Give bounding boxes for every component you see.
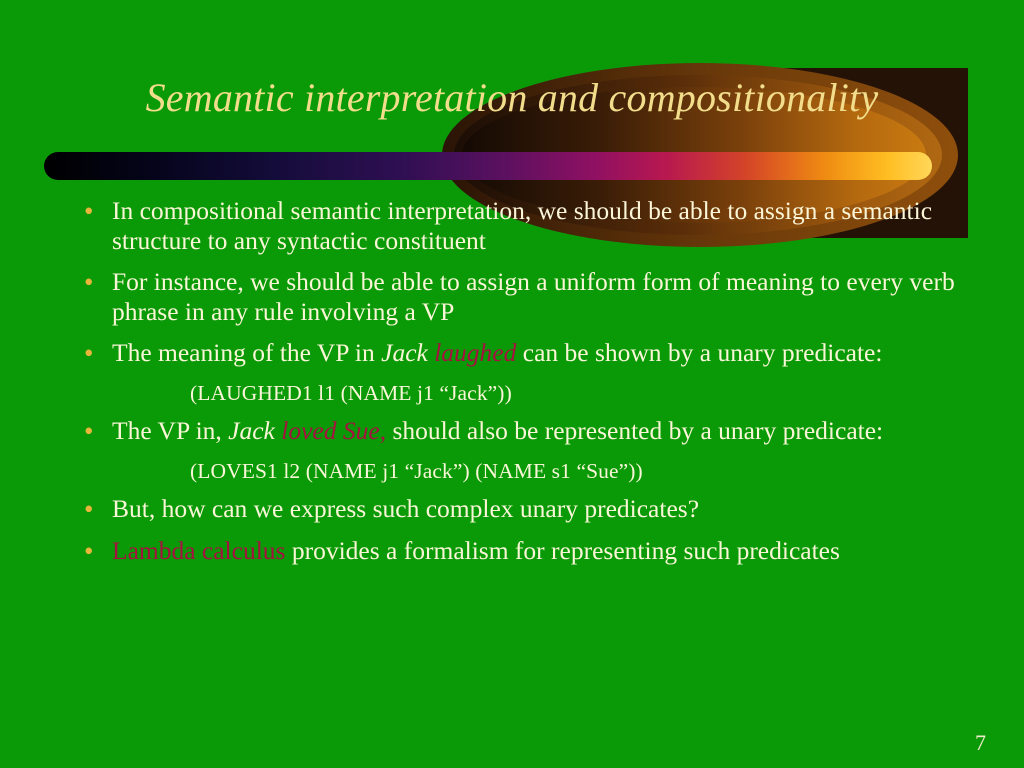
bullet-dot-icon: • <box>78 536 112 567</box>
bullet-item: • For instance, we should be able to ass… <box>78 267 968 327</box>
bullet-segment-emphasis: loved Sue <box>281 416 379 445</box>
logical-form: (LOVES1 l2 (NAME j1 “Jack”) (NAME s1 “Su… <box>190 458 968 485</box>
bullet-segment-emphasis: Jack <box>228 416 281 445</box>
bullet-segment: In compositional semantic interpretation… <box>112 196 932 255</box>
page-number: 7 <box>975 730 986 756</box>
bullet-item: • But, how can we express such complex u… <box>78 494 968 525</box>
bullet-dot-icon: • <box>78 196 112 227</box>
slide-body: • In compositional semantic interpretati… <box>78 196 968 578</box>
slide-canvas: Semantic interpretation and compositiona… <box>0 0 1024 768</box>
bullet-text: Lambda calculus provides a formalism for… <box>112 536 968 566</box>
bullet-item: • The VP in, Jack loved Sue, should also… <box>78 416 968 447</box>
bullet-text: But, how can we express such complex una… <box>112 494 968 524</box>
bullet-dot-icon: • <box>78 267 112 298</box>
bullet-item: • The meaning of the VP in Jack laughed … <box>78 338 968 369</box>
bullet-segment: But, how can we express such complex una… <box>112 494 699 523</box>
bullet-segment: provides a formalism for representing su… <box>285 536 839 565</box>
logical-form: (LAUGHED1 l1 (NAME j1 “Jack”)) <box>190 380 968 407</box>
bullet-dot-icon: • <box>78 338 112 369</box>
bullet-segment-emphasis: laughed <box>434 338 516 367</box>
bullet-segment: can be shown by a unary predicate: <box>516 338 882 367</box>
bullet-item: • Lambda calculus provides a formalism f… <box>78 536 968 567</box>
bullet-segment: should also be represented by a unary pr… <box>386 416 883 445</box>
bullet-segment: The meaning of the VP in <box>112 338 381 367</box>
bullet-item: • In compositional semantic interpretati… <box>78 196 968 256</box>
bullet-segment: The VP in, <box>112 416 228 445</box>
bullet-dot-icon: • <box>78 416 112 447</box>
bullet-dot-icon: • <box>78 494 112 525</box>
slide-title: Semantic interpretation and compositiona… <box>0 74 1024 121</box>
bullet-text: The meaning of the VP in Jack laughed ca… <box>112 338 968 368</box>
bullet-text: The VP in, Jack loved Sue, should also b… <box>112 416 968 446</box>
bullet-segment: For instance, we should be able to assig… <box>112 267 955 326</box>
bullet-segment-emphasis: Lambda calculus <box>112 536 285 565</box>
bullet-segment-emphasis: Jack <box>381 338 434 367</box>
bullet-text: For instance, we should be able to assig… <box>112 267 968 327</box>
bullet-text: In compositional semantic interpretation… <box>112 196 968 256</box>
